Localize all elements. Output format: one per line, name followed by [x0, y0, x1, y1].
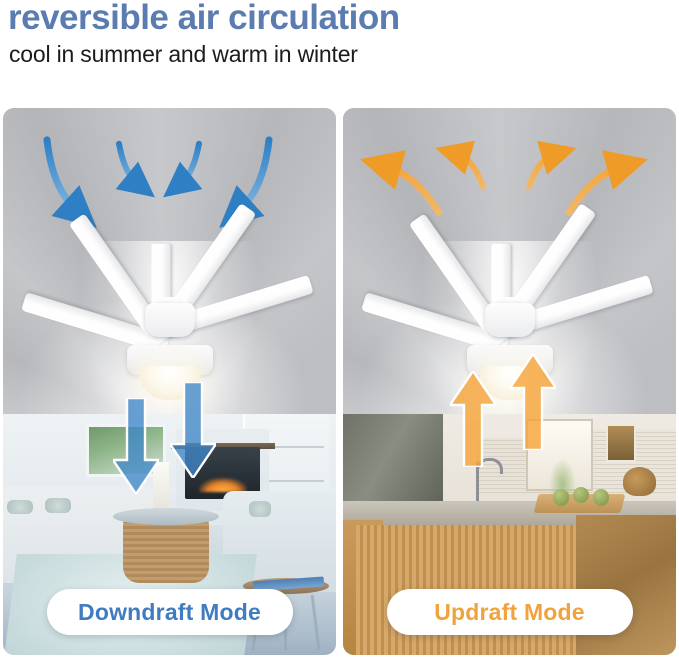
updraft-mode-badge[interactable]: Updraft Mode	[387, 589, 633, 635]
curved-airflow-arrow-icon	[455, 153, 483, 186]
updraft-mode-panel: Updraft Mode	[343, 108, 676, 655]
fan-motor-housing	[145, 303, 195, 337]
curved-airflow-arrow-icon	[119, 144, 139, 185]
page-title: reversible air circulation	[8, 0, 400, 38]
basket-tray	[113, 508, 220, 525]
curved-airflow-arrow-icon	[47, 140, 79, 213]
downdraft-mode-badge[interactable]: Downdraft Mode	[47, 589, 293, 635]
ceiling-fan-icon	[10, 252, 330, 402]
fire-flame	[199, 478, 247, 492]
curved-airflow-arrow-icon	[529, 153, 557, 186]
downdraft-mode-label: Downdraft Mode	[78, 599, 261, 626]
updraft-mode-label: Updraft Mode	[434, 599, 585, 626]
framed-picture	[606, 424, 636, 463]
big-up-arrow-icon	[450, 371, 496, 467]
header: reversible air circulation cool in summe…	[0, 0, 679, 100]
big-down-arrow-icon	[170, 382, 216, 478]
brass-kettle	[623, 467, 656, 496]
dark-cabinet	[343, 414, 443, 505]
curved-airflow-arrow-icon	[569, 165, 625, 212]
curved-airflow-arrow-icon	[383, 165, 439, 212]
fan-motor-housing	[485, 303, 535, 337]
downdraft-mode-panel: Downdraft Mode	[3, 108, 336, 655]
page-subtitle: cool in summer and warm in winter	[9, 41, 358, 68]
big-up-arrow-icon	[510, 354, 556, 450]
curved-airflow-arrow-icon	[179, 144, 199, 185]
big-down-arrow-icon	[113, 398, 159, 494]
curved-airflow-arrow-icon	[237, 140, 269, 213]
woven-basket-table	[123, 515, 210, 582]
